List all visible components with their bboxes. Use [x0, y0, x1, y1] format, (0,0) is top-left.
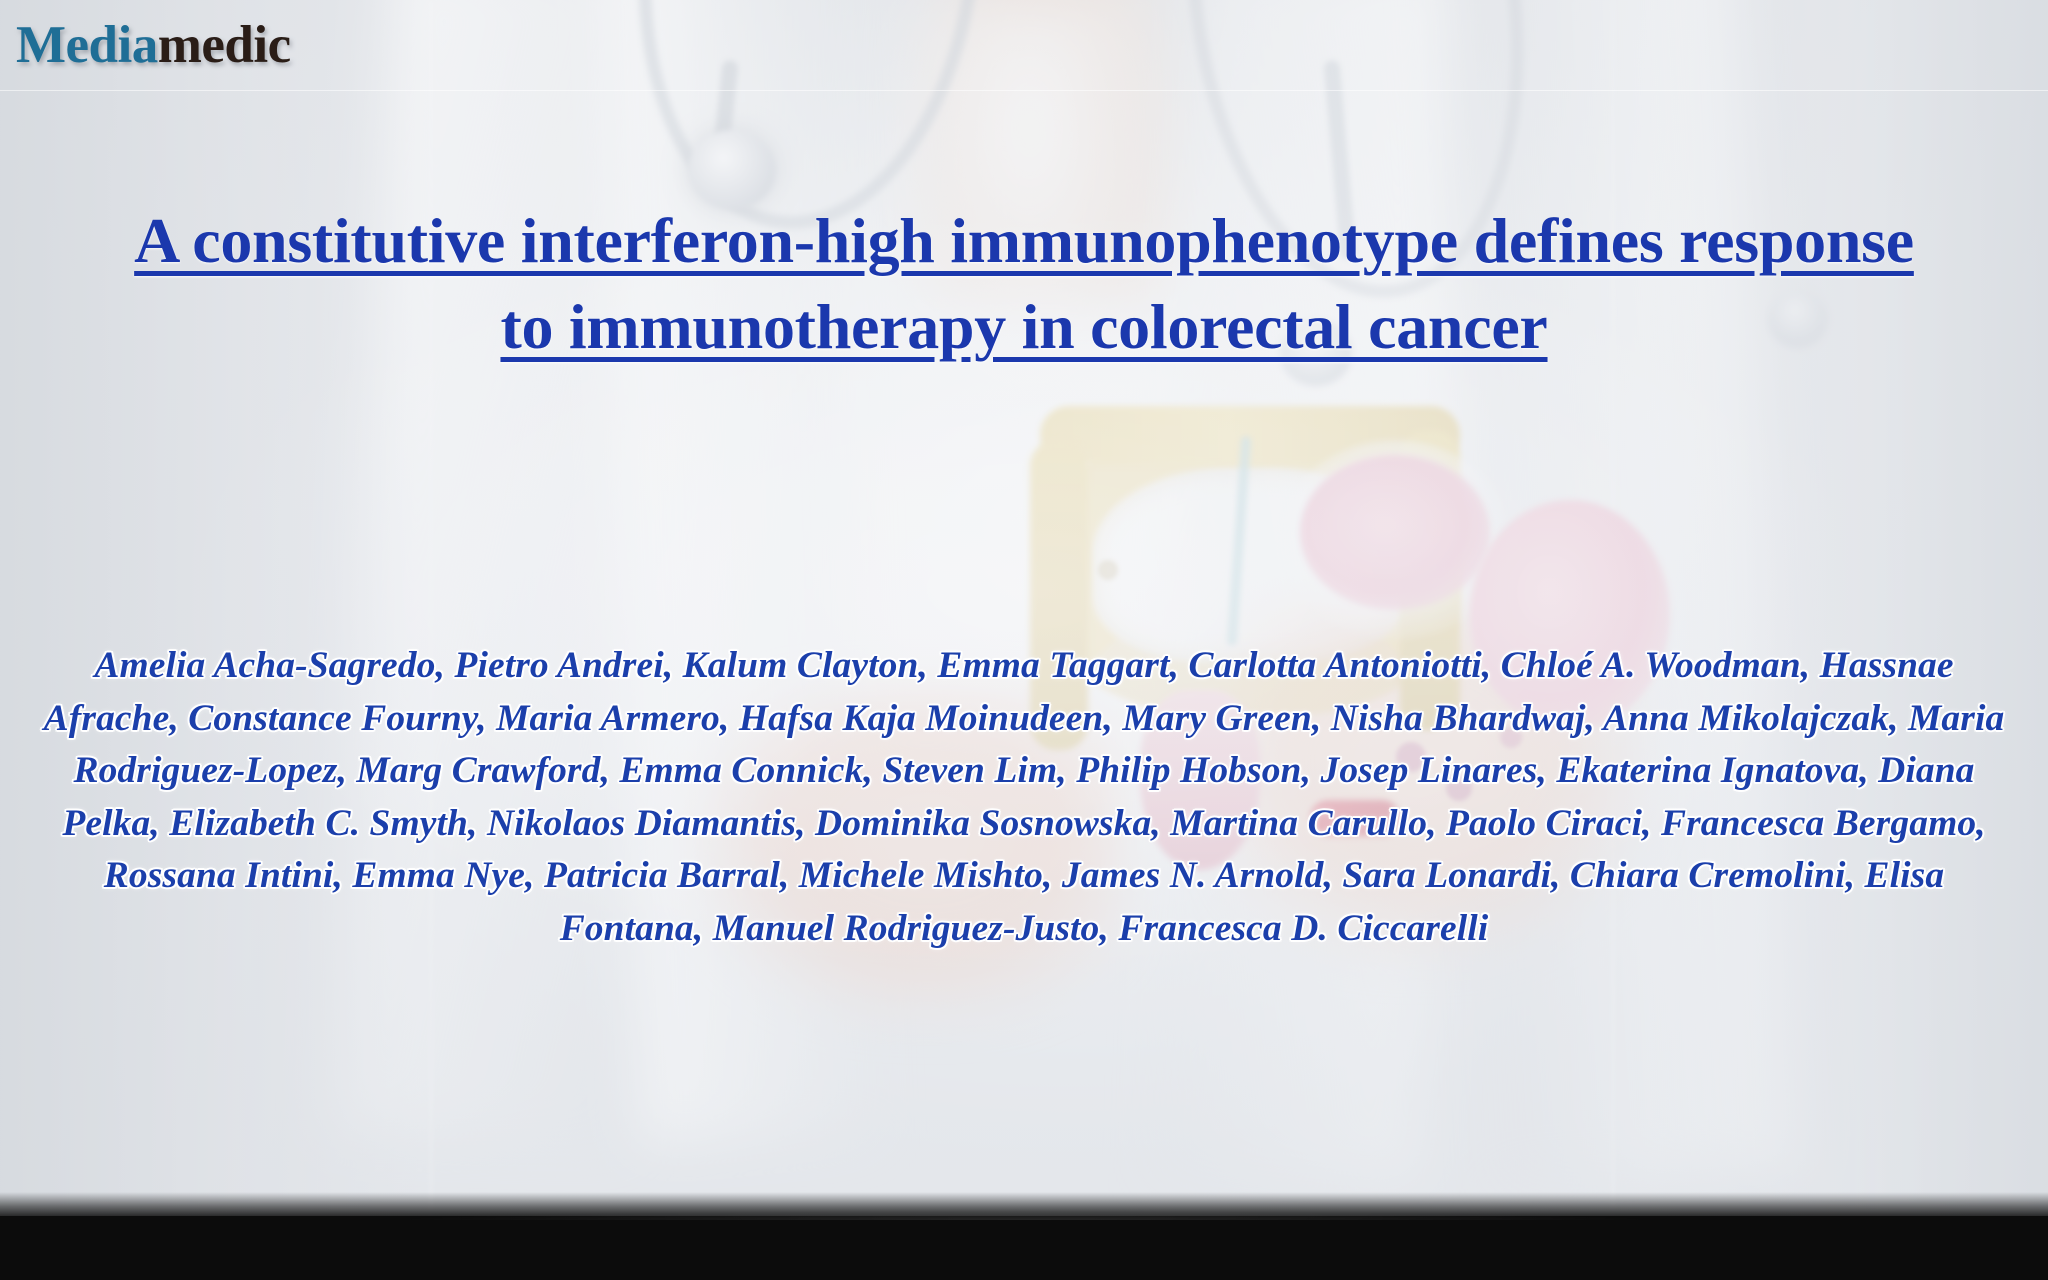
logo-letter-i-wrap: i: [253, 3, 267, 87]
bottom-bar: [0, 1216, 2048, 1280]
logo-text-c: c: [268, 16, 291, 74]
logo-text-i: i: [253, 16, 267, 74]
author-list: Amelia Acha-Sagredo, Pietro Andrei, Kalu…: [28, 640, 2020, 955]
header-bar: Mediamedic: [0, 0, 2048, 90]
logo-text-med: med: [158, 16, 254, 74]
mediamedic-logo[interactable]: Mediamedic: [16, 3, 291, 87]
page-title[interactable]: A constitutive interferon-high immunophe…: [120, 198, 1928, 370]
bottom-bar-sheen: [0, 1210, 2048, 1220]
header-divider: [0, 90, 2048, 91]
logo-text-media: Media: [16, 16, 158, 74]
